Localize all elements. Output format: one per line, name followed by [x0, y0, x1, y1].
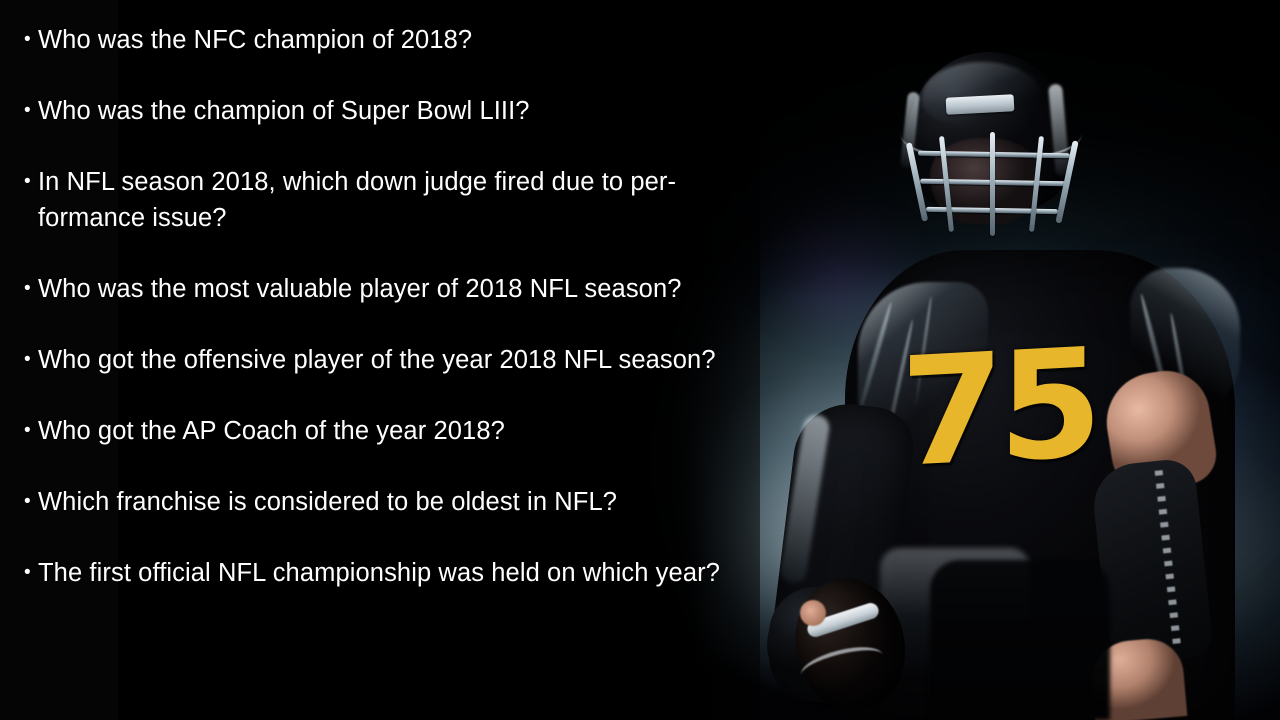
question-item-5: Who got the offensive player of the year… — [24, 342, 764, 378]
question-item-2: Who was the champion of Super Bowl LIII? — [24, 93, 764, 129]
question-item-8: The first official NFL championship was … — [24, 555, 764, 591]
helmet-gloss-highlight — [922, 62, 1042, 124]
facemask-bar — [990, 132, 995, 236]
question-list: Who was the NFC champion of 2018? Who wa… — [0, 0, 780, 720]
question-item-3: In NFL season 2018, which down judge fir… — [24, 164, 780, 236]
jersey-number: 75 — [900, 313, 1090, 513]
slide-root: 75 — [0, 0, 1280, 720]
player-thumb — [800, 600, 826, 626]
question-item-1: Who was the NFC champion of 2018? — [24, 22, 764, 58]
facemask — [902, 126, 1086, 246]
helmet-decal — [946, 94, 1015, 115]
question-item-7: Which franchise is considered to be olde… — [24, 484, 764, 520]
question-item-6: Who got the AP Coach of the year 2018? — [24, 413, 764, 449]
player-hip-shadow — [930, 560, 1110, 720]
question-item-4: Who was the most valuable player of 2018… — [24, 271, 764, 307]
